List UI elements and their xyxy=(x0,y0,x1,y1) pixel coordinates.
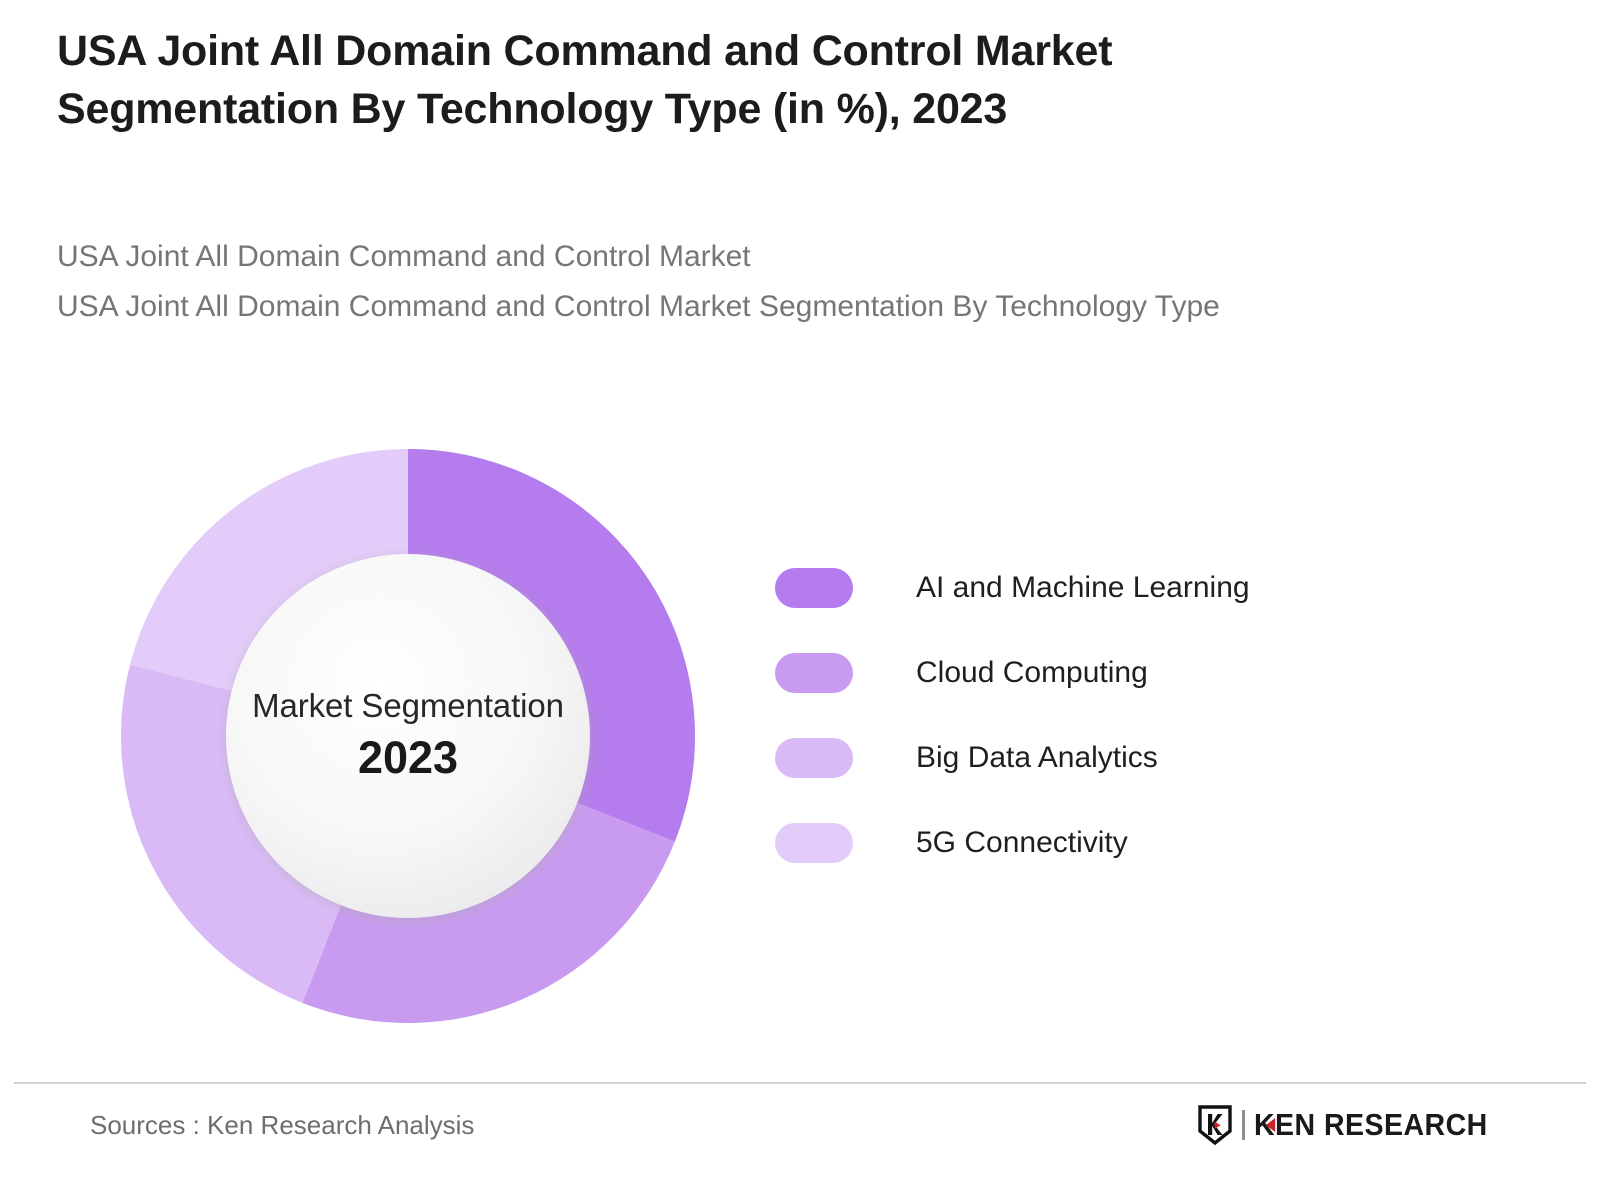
logo-wordmark: K EN RESEARCH xyxy=(1254,1107,1488,1143)
legend-item[interactable]: Cloud Computing xyxy=(775,630,1395,715)
legend-swatch xyxy=(775,823,853,863)
chart-area: Market Segmentation 2023 AI and Machine … xyxy=(0,420,1600,1060)
legend-label: Big Data Analytics xyxy=(916,740,1158,776)
subtitle-block: USA Joint All Domain Command and Control… xyxy=(57,232,1477,333)
logo-letter-k: K xyxy=(1254,1107,1275,1143)
subtitle-line-1: USA Joint All Domain Command and Control… xyxy=(57,232,1477,282)
logo-separator xyxy=(1242,1110,1245,1140)
legend-label: Cloud Computing xyxy=(916,655,1148,691)
logo-red-triangle-icon xyxy=(1266,1118,1275,1132)
legend-label: AI and Machine Learning xyxy=(916,570,1250,606)
legend-label: 5G Connectivity xyxy=(916,825,1128,861)
logo-rest-glyphs: EN RESEARCH xyxy=(1275,1107,1488,1143)
donut-chart: Market Segmentation 2023 xyxy=(120,448,696,1024)
ken-research-logo: K EN RESEARCH xyxy=(1198,1102,1508,1148)
donut-hole xyxy=(226,554,590,918)
legend-item[interactable]: Big Data Analytics xyxy=(775,715,1395,800)
chart-legend: AI and Machine LearningCloud ComputingBi… xyxy=(775,545,1395,885)
legend-swatch xyxy=(775,738,853,778)
header: USA Joint All Domain Command and Control… xyxy=(57,22,1377,139)
legend-item[interactable]: AI and Machine Learning xyxy=(775,545,1395,630)
slide-canvas: USA Joint All Domain Command and Control… xyxy=(0,0,1600,1200)
legend-swatch xyxy=(775,568,853,608)
sources-text: Sources : Ken Research Analysis xyxy=(90,1110,474,1141)
donut-svg xyxy=(120,448,696,1024)
page-title: USA Joint All Domain Command and Control… xyxy=(57,22,1377,139)
legend-swatch xyxy=(775,653,853,693)
subtitle-line-2: USA Joint All Domain Command and Control… xyxy=(57,282,1477,332)
legend-item[interactable]: 5G Connectivity xyxy=(775,800,1395,885)
footer: Sources : Ken Research Analysis K EN RES… xyxy=(0,1084,1600,1200)
shield-k-icon xyxy=(1198,1105,1232,1145)
